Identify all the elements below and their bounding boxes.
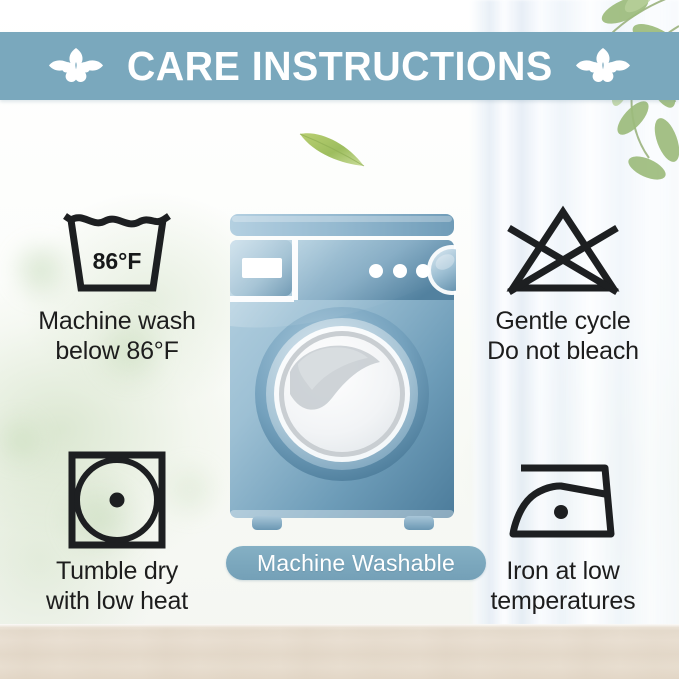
label-line-1: Tumble dry	[12, 556, 222, 586]
washer-foot-right	[404, 516, 434, 530]
care-symbol-label: Gentle cycle Do not bleach	[458, 306, 668, 366]
care-symbol-machine-wash: 86°F Machine wash below 86°F	[12, 196, 222, 366]
label-line-1: Gentle cycle	[458, 306, 668, 336]
care-symbol-label: Machine wash below 86°F	[12, 306, 222, 366]
badge-label: Machine Washable	[257, 552, 455, 575]
page-title: CARE INSTRUCTIONS	[127, 46, 553, 87]
washer-foot-left	[252, 516, 282, 530]
background-table-surface	[0, 624, 679, 679]
header-banner: CARE INSTRUCTIONS	[0, 32, 679, 100]
iron-icon	[501, 454, 625, 546]
label-line-2: Do not bleach	[458, 336, 668, 366]
label-line-1: Iron at low	[458, 556, 668, 586]
care-symbol-tumble-dry: Tumble dry with low heat	[12, 446, 222, 616]
triangle-crossed-icon	[501, 200, 625, 300]
tumble-dry-icon	[66, 449, 168, 551]
fleur-de-lis-left-icon	[48, 44, 104, 88]
care-symbol-label: Tumble dry with low heat	[12, 556, 222, 616]
fleur-de-lis-right-icon	[575, 44, 631, 88]
background-table-edge	[0, 624, 679, 628]
washing-machine-illustration	[228, 214, 456, 536]
wash-tub-symbol: 86°F	[12, 196, 222, 304]
iron-symbol	[458, 446, 668, 554]
care-symbol-label: Iron at low temperatures	[458, 556, 668, 616]
care-instructions-infographic: CARE INSTRUCTIONS 86°F Machine wash belo…	[0, 0, 679, 679]
floating-leaf-icon	[296, 124, 368, 172]
no-bleach-symbol	[458, 196, 668, 304]
care-symbol-iron: Iron at low temperatures	[458, 446, 668, 616]
label-line-1: Machine wash	[12, 306, 222, 336]
label-line-2: with low heat	[12, 586, 222, 616]
label-line-2: below 86°F	[12, 336, 222, 366]
machine-washable-badge: Machine Washable	[226, 546, 486, 580]
tumble-dry-symbol	[12, 446, 222, 554]
wash-temperature-value: 86°F	[55, 248, 179, 275]
label-line-2: temperatures	[458, 586, 668, 616]
care-symbol-gentle-cycle-no-bleach: Gentle cycle Do not bleach	[458, 196, 668, 366]
